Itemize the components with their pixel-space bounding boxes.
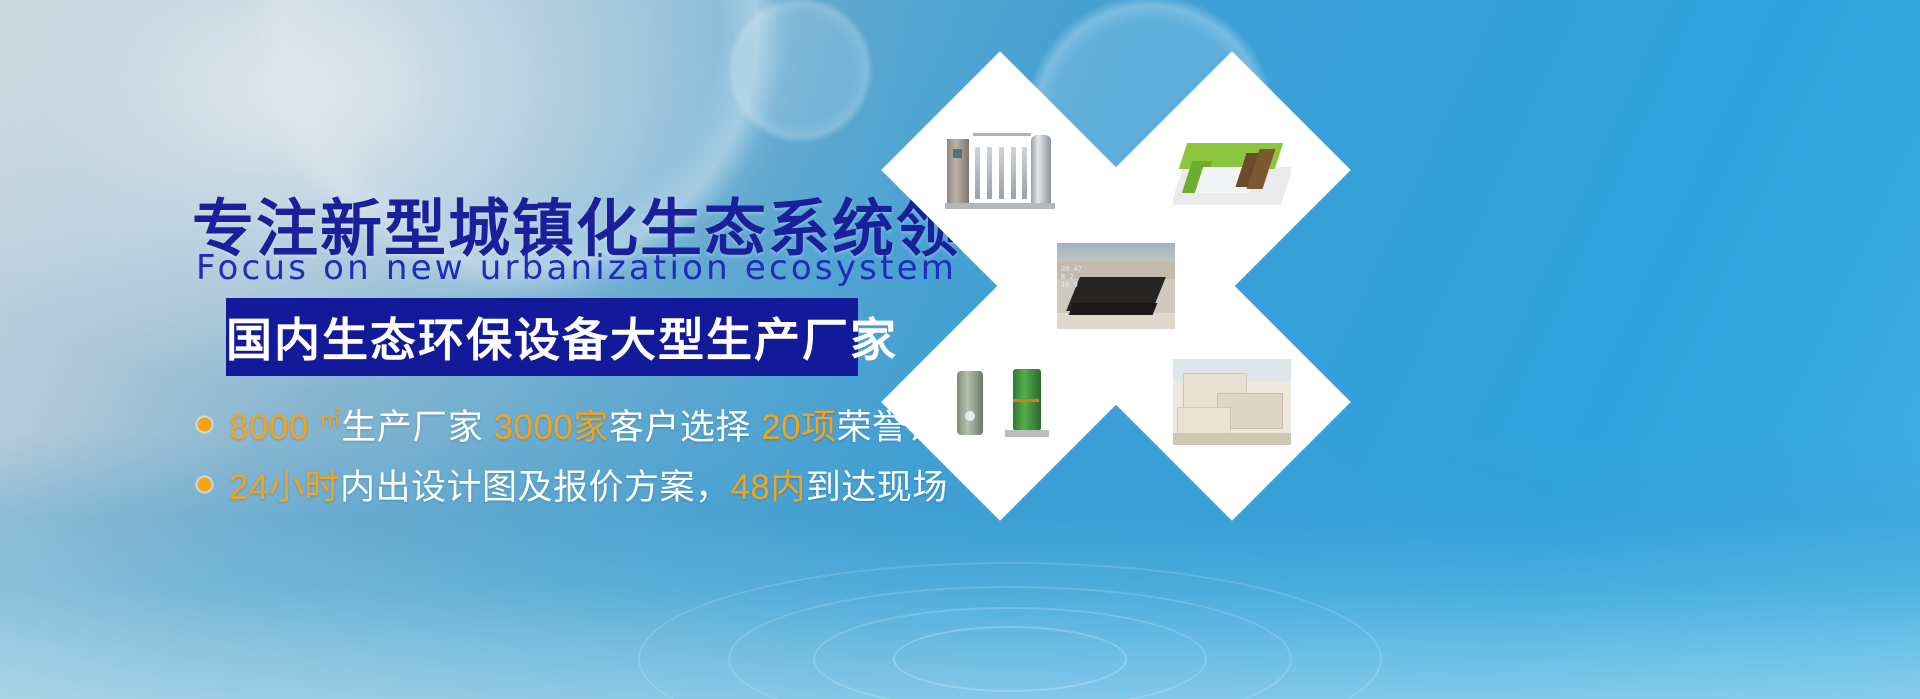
highlight-box-label: 国内生态环保设备大型生产厂家 xyxy=(226,304,858,370)
subtitle-english: Focus on new urbanization ecosystem xyxy=(196,248,957,288)
list-item: 8000 ㎡生产厂家 3000家客户选择 20项荣誉证书 xyxy=(196,400,979,448)
product-photo-collage: 39 478 216 9 xyxy=(900,40,1360,540)
list-item-label: 8000 ㎡生产厂家 3000家客户选择 20项荣誉证书 xyxy=(229,399,979,450)
metric-area-suffix: 生产厂家 xyxy=(341,408,493,447)
metric-response-hours: 24小时 xyxy=(229,468,340,507)
feature-list: 8000 ㎡生产厂家 3000家客户选择 20项荣誉证书 24小时内出设计图及报… xyxy=(196,400,979,520)
metric-onsite-hours: 48内 xyxy=(730,468,805,507)
metric-certificates: 20项 xyxy=(761,408,836,447)
pump-station-units-photo xyxy=(941,359,1059,445)
list-item: 24小时内出设计图及报价方案，48内到达现场 xyxy=(196,460,979,508)
metric-response-suffix: 内出设计图及报价方案， xyxy=(340,468,731,507)
buried-integrated-tank-photo: 39 478 216 9 xyxy=(1057,243,1175,329)
bullet-dot-icon xyxy=(196,476,213,493)
promotional-banner: 专注新型城镇化生态系统领域 Focus on new urbanization … xyxy=(0,0,1920,699)
sewage-plant-model-photo xyxy=(1173,127,1291,213)
list-item-label: 24小时内出设计图及报价方案，48内到达现场 xyxy=(229,459,948,510)
highlight-box: 国内生态环保设备大型生产厂家 xyxy=(226,298,858,376)
metric-customers: 3000家 xyxy=(494,408,609,447)
banner-copy-block: 专注新型城镇化生态系统领域 Focus on new urbanization … xyxy=(0,0,980,699)
metric-area: 8000 xyxy=(229,408,319,447)
stacked-panels-photo xyxy=(1173,359,1291,445)
metric-area-unit: ㎡ xyxy=(319,406,341,431)
bullet-dot-icon xyxy=(196,416,213,433)
metric-customers-suffix: 客户选择 xyxy=(609,408,761,447)
water-treatment-skid-photo xyxy=(941,127,1059,213)
